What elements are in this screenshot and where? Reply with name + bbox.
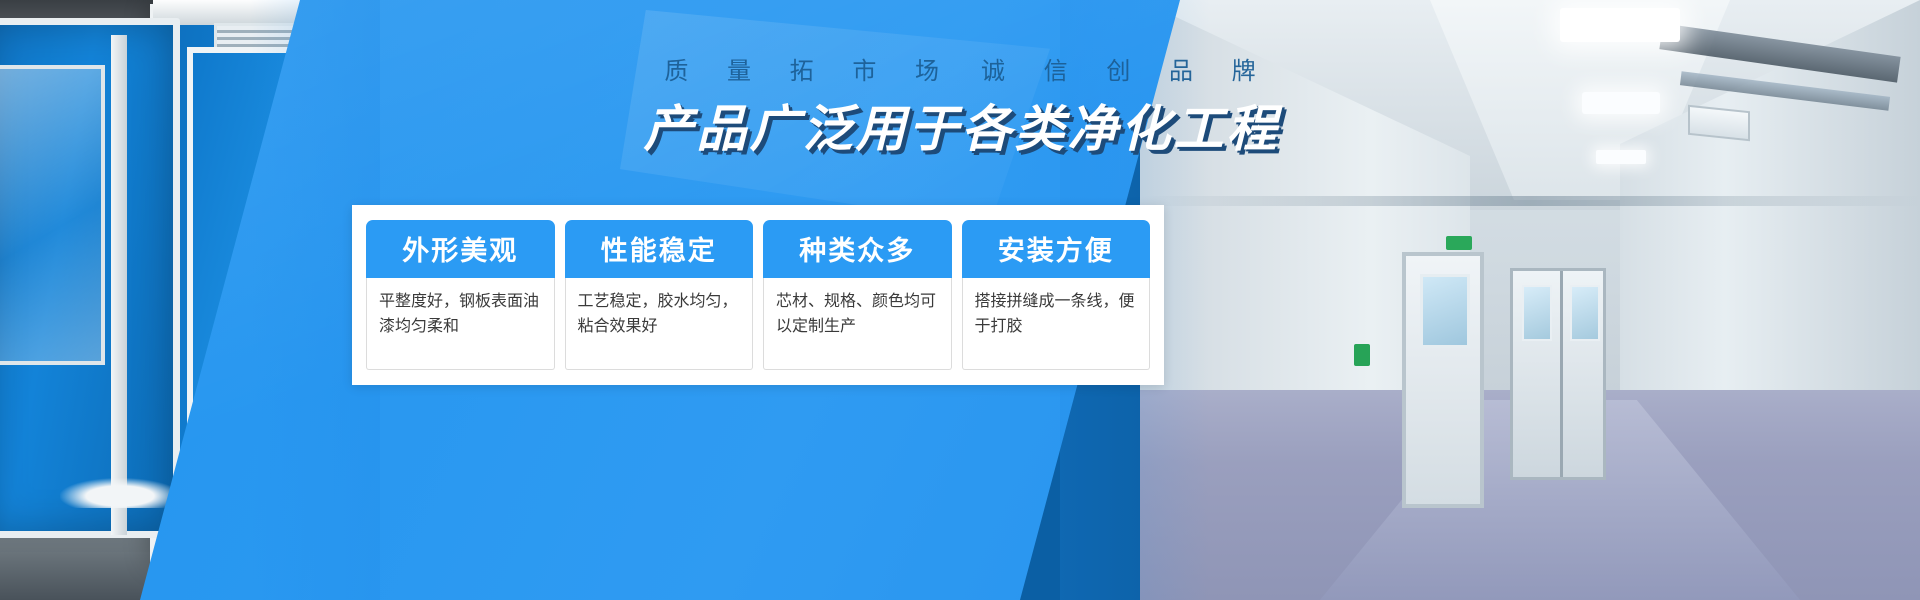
exit-sign-icon: [1446, 236, 1472, 250]
feature-card-body: 芯材、规格、颜色均可以定制生产: [763, 278, 952, 370]
feature-card-title: 性能稳定: [565, 220, 754, 278]
feature-card[interactable]: 种类众多 芯材、规格、颜色均可以定制生产: [763, 220, 952, 370]
banner-subtitle: 质 量 拓 市 场诚 信 创 品 牌: [0, 58, 1920, 87]
feature-card-body: 平整度好，钢板表面油漆均匀柔和: [366, 278, 555, 370]
cleanroom-door: [1402, 252, 1484, 508]
wall-trim-strip: [1140, 196, 1920, 206]
ground-patch: [60, 478, 180, 508]
feature-card[interactable]: 性能稳定 工艺稳定，胶水均匀，粘合效果好: [565, 220, 754, 370]
cleanroom-double-door: [1510, 268, 1606, 480]
feature-card-body: 搭接拼缝成一条线，便于打胶: [962, 278, 1151, 370]
feature-card[interactable]: 安装方便 搭接拼缝成一条线，便于打胶: [962, 220, 1151, 370]
subtitle-segment-1: 质 量 拓 市 场: [664, 58, 955, 85]
banner-text-block: 质 量 拓 市 场诚 信 创 品 牌 产品广泛用于各类净化工程: [0, 58, 1920, 158]
door-window-right: [1570, 285, 1600, 341]
feature-card[interactable]: 外形美观 平整度好，钢板表面油漆均匀柔和: [366, 220, 555, 370]
door-window: [1420, 274, 1470, 348]
ceiling-light-icon: [1560, 8, 1680, 42]
feature-card-title: 安装方便: [962, 220, 1151, 278]
promo-banner: 质 量 拓 市 场诚 信 创 品 牌 产品广泛用于各类净化工程 外形美观 平整度…: [0, 0, 1920, 600]
feature-card-title: 外形美观: [366, 220, 555, 278]
feature-card-body: 工艺稳定，胶水均匀，粘合效果好: [565, 278, 754, 370]
door-window-left: [1522, 285, 1552, 341]
subtitle-segment-2: 诚 信 创 品 牌: [981, 58, 1272, 85]
wall-fixture-icon: [1354, 344, 1370, 366]
feature-card-title: 种类众多: [763, 220, 952, 278]
banner-headline: 产品广泛用于各类净化工程: [0, 101, 1920, 159]
feature-card-container: 外形美观 平整度好，钢板表面油漆均匀柔和 性能稳定 工艺稳定，胶水均匀，粘合效果…: [352, 205, 1164, 385]
